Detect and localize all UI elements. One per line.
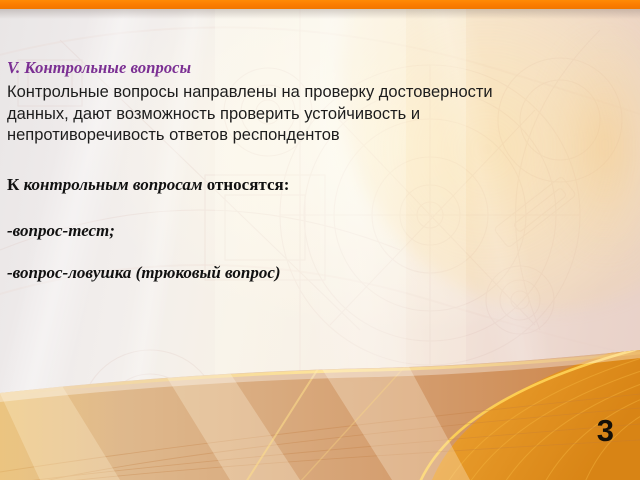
lead-in-suffix: относятся: [203,175,290,194]
bottom-decorative-band [0,350,640,480]
content-spacer-3 [7,242,636,262]
slide-heading: V. Контрольные вопросы [7,57,636,78]
body-paragraph-line-1: Контрольные вопросы направлены на провер… [7,82,636,104]
body-paragraph-line-2: данных, дают возможность проверить устой… [7,104,636,126]
presentation-slide: V. Контрольные вопросы Контрольные вопро… [0,0,640,480]
body-paragraph-line-3: непротиворечивость ответов респондентов [7,125,636,147]
lead-in-emphasis: контрольным вопросам [24,175,203,194]
lead-in-line: К контрольным вопросам относятся: [7,174,636,196]
topbar-shadow [0,9,640,19]
top-accent-bar [0,0,640,9]
list-item-2: -вопрос-ловушка (трюковый вопрос) [7,262,636,284]
list-item-1: -вопрос-тест; [7,220,636,242]
lead-in-prefix: К [7,175,24,194]
page-number: 3 [597,415,614,446]
slide-content: V. Контрольные вопросы Контрольные вопро… [7,57,636,284]
content-spacer-2 [7,196,636,220]
content-spacer-1 [7,147,636,174]
